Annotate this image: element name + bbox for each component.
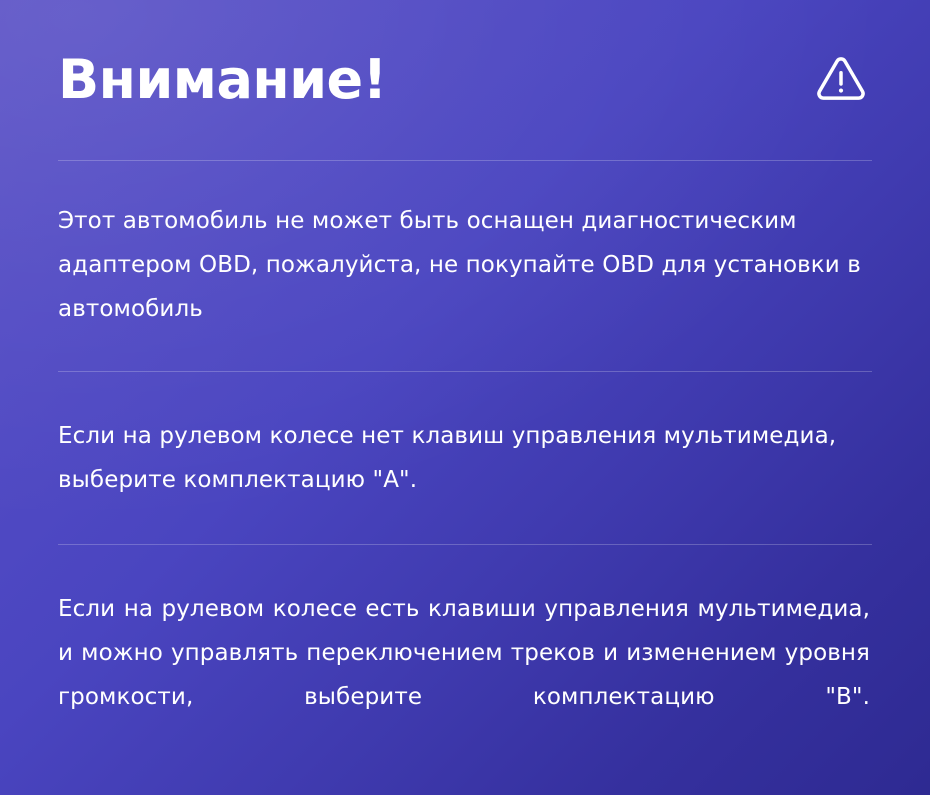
page-title: Внимание! bbox=[58, 53, 387, 107]
notice-text-trim-a: Если на рулевом колесе нет клавиш управл… bbox=[58, 414, 872, 502]
warning-triangle-icon bbox=[814, 53, 868, 107]
notice-section-trim-a: Если на рулевом колесе нет клавиш управл… bbox=[58, 372, 872, 544]
notice-text-obd-warning: Этот автомобиль не может быть оснащен ди… bbox=[58, 199, 872, 331]
warning-notice-panel: Внимание! Этот автомобиль не может быть … bbox=[0, 0, 930, 795]
notice-section-trim-b: Если на рулевом колесе есть клавиши упра… bbox=[58, 545, 872, 763]
notice-text-trim-b: Если на рулевом колесе есть клавиши упра… bbox=[58, 587, 870, 763]
notice-header: Внимание! bbox=[58, 0, 872, 160]
warning-icon-wrap bbox=[814, 53, 872, 107]
notice-section-obd-warning: Этот автомобиль не может быть оснащен ди… bbox=[58, 161, 872, 371]
panel-inner: Внимание! Этот автомобиль не может быть … bbox=[0, 0, 930, 795]
